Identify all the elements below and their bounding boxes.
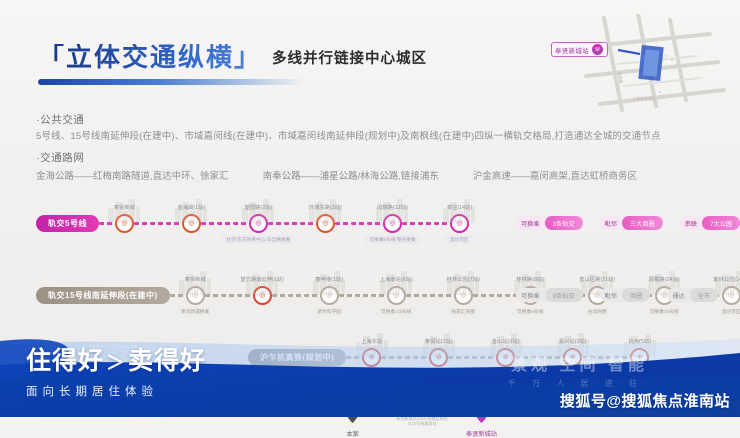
station-name: 恵山区路(21站)	[579, 276, 615, 283]
station-node[interactable]: ◎春申港(1站)紫竹科学园	[320, 286, 339, 305]
station-node[interactable]: ◎上海南站(6站)可换乘1/3号线	[387, 286, 406, 305]
info-badge[interactable]: 可换乘9条轨交	[516, 288, 583, 302]
station-tag: 古北商圈	[583, 307, 612, 316]
page-header: 「立体交通纵横」 多线并行链接中心城区	[38, 44, 427, 85]
line-label-metro-15: 轨交15号线南延伸段(在建中)	[36, 287, 170, 304]
station-tag: 可换乘9号线	[512, 307, 548, 316]
badge-value: 商圈	[622, 288, 650, 302]
track-segment	[284, 222, 300, 225]
badge-key: 可换乘	[516, 291, 545, 300]
station-node[interactable]: ◎莘庄(14站)直达市区	[450, 214, 469, 233]
page-subtitle: 多线并行链接中心城区	[272, 47, 427, 70]
road-network-list: 金海公路——红梅南路隧道,直达中环、徐家汇 南奉公路——浦星公路/林海公路,链接…	[36, 168, 726, 182]
slogan-char-3: 卖得好	[128, 347, 206, 375]
track-segment	[489, 294, 505, 297]
station-name: 闵瑞路(12站)	[377, 204, 408, 211]
station-node[interactable]: ◎金海湖(1站)	[182, 214, 201, 233]
info-badge[interactable]: 毗邻三大商圈	[600, 216, 663, 230]
badge-value: 全市	[690, 288, 718, 302]
station-name: 望园路(2站)	[245, 204, 273, 211]
metro-icon: M	[592, 44, 603, 55]
title-row: 「立体交通纵横」 多线并行链接中心城区	[38, 44, 427, 70]
track-segment	[288, 294, 304, 297]
description-block: ·公共交通 5号线、15号线南延伸段(在建中)、市域嘉闵线(在建中)、市域嘉闵线…	[36, 112, 726, 182]
station-tag: 可换乘10号线	[645, 307, 684, 316]
badge-value: 7大公园	[702, 216, 740, 230]
station-name: 紫林公园(14站)	[713, 276, 740, 283]
road-item: 沪金高速——嘉闵高架,直达虹桥商务区	[473, 168, 637, 182]
destination-marker-label: 奉贤新城站	[466, 429, 497, 438]
track-segment	[422, 294, 438, 297]
inset-locator-map: 望园路 上海市奉贤区 奉贤新城站 M	[500, 14, 728, 118]
inset-map-graphic: 望园路 上海市奉贤区	[500, 14, 728, 118]
slogan-char-1: 住	[26, 347, 52, 375]
inset-station-marker[interactable]: 奉贤新城站 M	[551, 42, 608, 57]
brand-tagline: 景观 空间 智能	[511, 351, 648, 375]
watermark: 搜狐号@搜狐焦点淮南站	[560, 390, 730, 411]
walk-note: 奉贤新城站为5号线南延伸段与15号线换乘站	[396, 416, 448, 426]
station-name: 上海南站(6站)	[380, 276, 413, 283]
info-badge[interactable]: 毗邻商圈	[600, 288, 651, 302]
station-name: 桂林路(8站)	[516, 276, 544, 283]
slogan-main: 住得好＞卖得好	[26, 349, 206, 374]
badge-key: 毗邻	[600, 291, 622, 300]
badge-group-metro-15: 可换乘9条轨交毗邻商圈通达全市	[516, 288, 718, 302]
track-segment	[355, 294, 371, 297]
station-tag: 奉贤新城换乘	[176, 307, 214, 316]
station-tag: 直达市区	[717, 307, 740, 316]
line-track-metro-5: ◎奉贤新城◎金海湖(1站)◎望园路(2站)杜行/东方体育中心/马当路换乘◎环城东…	[99, 214, 469, 233]
station-tag: 紫竹科学园	[312, 307, 345, 316]
station-name: 环城东路(3站)	[309, 204, 342, 211]
page-title: 「立体交通纵横」	[38, 44, 262, 70]
slide-root: 「立体交通纵横」 多线并行链接中心城区 ·公共交通 5号线、15号线南延伸段(在…	[0, 0, 740, 417]
badge-value: 3条轨交	[545, 216, 583, 230]
slogan-arrow: ＞	[104, 353, 128, 374]
station-name: 桂林公园(7站)	[447, 276, 480, 283]
slogan-subline: 面向长期居住体验	[26, 383, 206, 399]
badge-group-metro-5: 可换乘3条轨交毗邻三大商圈串联7大公园	[516, 216, 740, 230]
badge-key: 串联	[680, 219, 702, 228]
public-transit-text: 5号线、15号线南延伸段(在建中)、市域嘉闵线(在建中)、市域嘉闵线南延伸段(规…	[36, 130, 726, 144]
track-segment	[418, 222, 434, 225]
station-node[interactable]: ◎望竹路南延伸(1站)	[253, 286, 272, 305]
info-badge[interactable]: 通达全市	[667, 288, 718, 302]
station-name: 顾戴路(24站)	[649, 276, 680, 283]
station-name: 奉贤新城	[185, 276, 206, 283]
station-node[interactable]: ◎望园路(2站)杜行/东方体育中心/马当路换乘	[249, 214, 268, 233]
badge-value: 9条轨交	[545, 288, 583, 302]
station-node[interactable]: ◎奉贤新城	[115, 214, 134, 233]
badge-value: 三大商圈	[622, 216, 663, 230]
track-segment	[150, 222, 166, 225]
track-segment	[217, 222, 233, 225]
brand-tagline-secondary: 千 万 人 居 进 驻	[508, 378, 644, 389]
origin-marker-label: 本案	[346, 429, 359, 438]
title-underline-rule	[38, 79, 306, 85]
station-tag: 直达市区	[445, 235, 474, 244]
station-node[interactable]: ◎紫林公园(14站)直达市区	[722, 286, 740, 305]
station-name: 金海湖(1站)	[178, 204, 206, 211]
station-node[interactable]: ◎桂林公园(7站)徐家汇商圈	[454, 286, 473, 305]
road-item: 金海公路——红梅南路隧道,直达中环、徐家汇	[36, 168, 229, 182]
line-row-metro-5: 轨交5号线 ◎奉贤新城◎金海湖(1站)◎望园路(2站)杜行/东方体育中心/马当路…	[36, 214, 469, 233]
station-name: 春申港(1站)	[315, 276, 343, 283]
badge-key: 可换乘	[516, 219, 545, 228]
inset-station-label: 奉贤新城站	[555, 45, 589, 55]
slogan-char-2: 得好	[52, 347, 104, 375]
station-tag: 可换乘8号线/莘庄换乘	[364, 235, 420, 244]
station-tag: 徐家汇商圈	[446, 307, 479, 316]
line-label-metro-5: 轨交5号线	[36, 215, 99, 232]
track-segment	[221, 294, 237, 297]
info-badge[interactable]: 串联7大公园	[680, 216, 740, 230]
bottom-banner: 住得好＞卖得好 面向长期居住体验 景观 空间 智能 千 万 人 居 进 驻 搜狐…	[0, 339, 740, 417]
badge-key: 毗邻	[600, 219, 622, 228]
station-name: 莘庄(14站)	[447, 204, 473, 211]
badge-key: 通达	[667, 291, 689, 300]
station-name: 奉贤新城	[114, 204, 135, 211]
station-tag: 可换乘1/3号线	[376, 307, 416, 316]
station-name: 望竹路南延伸(1站)	[240, 276, 284, 283]
inset-street-label: 上海市奉贤区	[632, 95, 656, 101]
info-badge[interactable]: 可换乘3条轨交	[516, 216, 583, 230]
station-tag: 杜行/东方体育中心/马当路换乘	[222, 235, 296, 244]
banner-slogan: 住得好＞卖得好 面向长期居住体验	[26, 349, 206, 399]
track-segment	[351, 222, 367, 225]
station-node[interactable]: ◎闵瑞路(12站)可换乘8号线/莘庄换乘	[383, 214, 402, 233]
station-node[interactable]: ◎环城东路(3站)	[316, 214, 335, 233]
road-item: 南奉公路——浦星公路/林海公路,链接浦东	[263, 168, 439, 182]
station-node[interactable]: ◎奉贤新城奉贤新城换乘	[186, 286, 205, 305]
road-network-label: ·交通路网	[36, 150, 726, 165]
